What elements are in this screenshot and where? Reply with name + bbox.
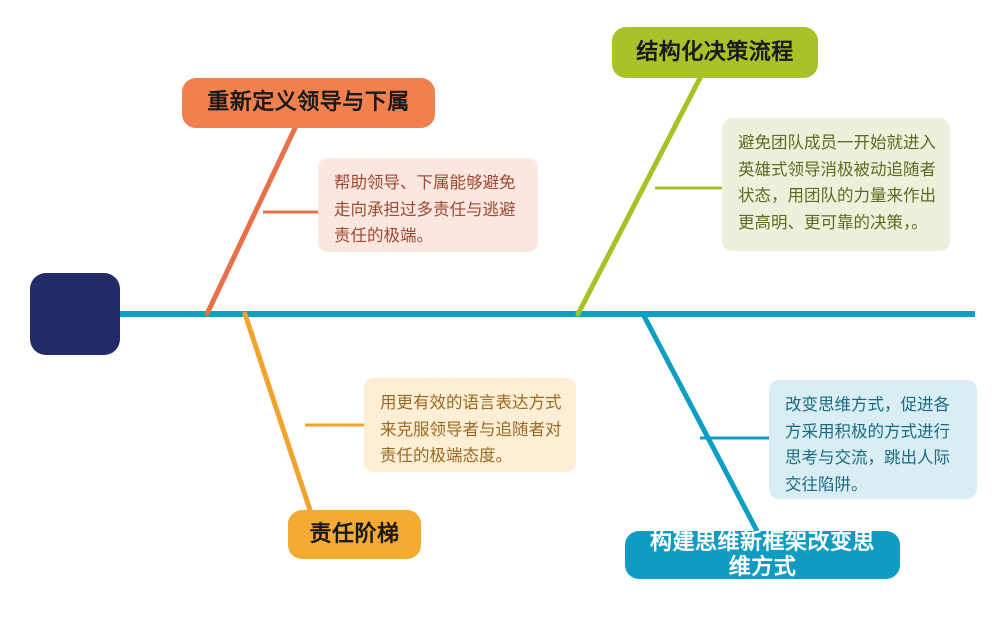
branch-redefine-leader-label-text: 重新定义领导与下属 [207,90,410,115]
branch-responsibility-ladder-note[interactable]: 用更有效的语言表达方式来克服领导者与追随者对责任的极端态度。 [364,378,576,472]
branch-structured-decision-note[interactable]: 避免团队成员一开始就进入英雄式领导消极被动追随者状态，用团队的力量来作出更高明、… [722,118,950,251]
branch-structured-decision-label-text: 结构化决策流程 [636,40,794,65]
diagram-lines-layer [0,0,999,619]
branch-responsibility-ladder-label[interactable]: 责任阶梯 [288,510,421,559]
branch-new-thinking-framework-bone [643,314,757,531]
branch-new-thinking-framework-note-text: 改变思维方式，促进各方采用积极的方式进行思考与交流，跳出人际交往陷阱。 [785,392,963,499]
branch-redefine-leader-note[interactable]: 帮助领导、下属能够避免走向承担过多责任与逃避责任的极端。 [318,158,538,252]
branch-responsibility-ladder-note-text: 用更有效的语言表达方式来克服领导者与追随者对责任的极端态度。 [380,390,562,470]
branch-redefine-leader-label[interactable]: 重新定义领导与下属 [182,78,435,128]
branch-responsibility-ladder-label-text: 责任阶梯 [309,522,399,547]
branch-responsibility-ladder-bone [245,314,310,510]
branch-structured-decision-bone [578,78,700,314]
branch-new-thinking-framework-label-text: 构建思维新框架改变思维方式 [641,530,884,581]
head-box[interactable] [30,273,120,355]
branch-structured-decision-note-text: 避免团队成员一开始就进入英雄式领导消极被动追随者状态，用团队的力量来作出更高明、… [738,130,936,237]
branch-redefine-leader-note-text: 帮助领导、下属能够避免走向承担过多责任与逃避责任的极端。 [334,170,524,250]
branch-redefine-leader-bone [207,128,295,314]
fishbone-diagram-canvas: 重新定义领导与下属帮助领导、下属能够避免走向承担过多责任与逃避责任的极端。结构化… [0,0,999,619]
branch-new-thinking-framework-note[interactable]: 改变思维方式，促进各方采用积极的方式进行思考与交流，跳出人际交往陷阱。 [769,380,977,499]
branch-structured-decision-label[interactable]: 结构化决策流程 [612,27,818,78]
branch-new-thinking-framework-label[interactable]: 构建思维新框架改变思维方式 [625,531,900,579]
